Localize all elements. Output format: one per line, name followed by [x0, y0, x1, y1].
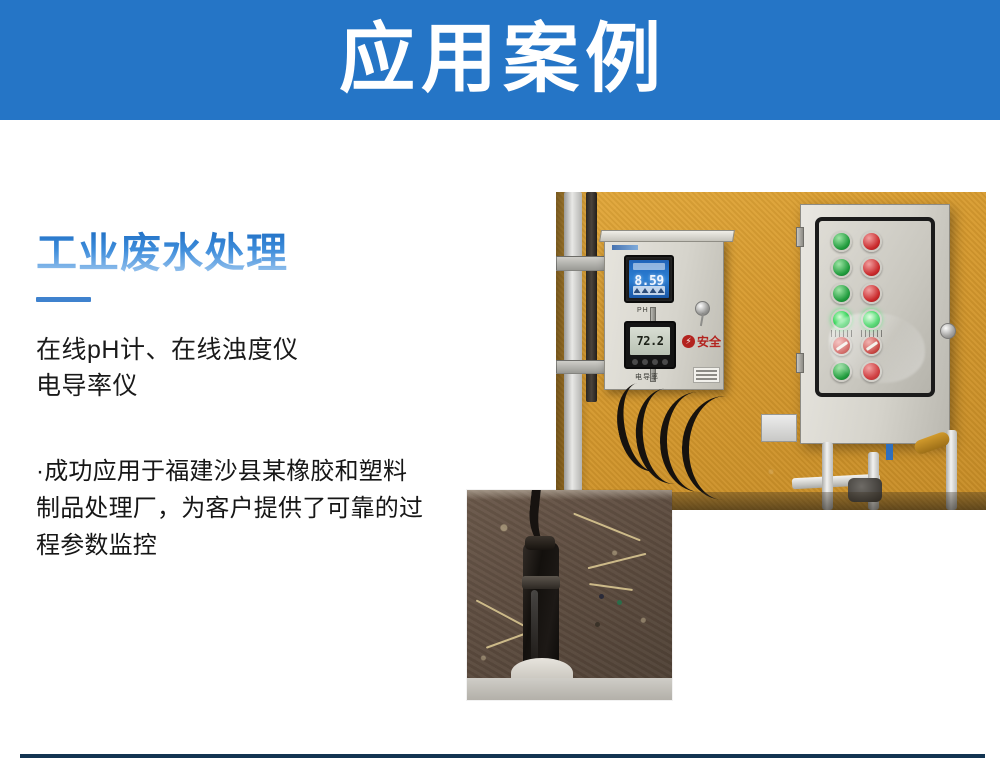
ph-key-arrow-4: [658, 288, 665, 293]
safety-decal-text: 安全: [697, 333, 721, 350]
blue-tape-marker: [886, 444, 893, 460]
junction-box: [761, 414, 797, 442]
spec-plate-line-2: [696, 374, 717, 376]
ph-meter-label: PH: [637, 307, 649, 314]
wall-strut-lower: [556, 360, 608, 374]
panel-hinge-upper: [796, 227, 804, 247]
panel-window: [815, 217, 935, 397]
title-divider: [36, 297, 91, 302]
indicator-lamp-green-1: [831, 231, 852, 252]
debris-speck-1: [617, 600, 622, 605]
indicator-lamp-green-3: [831, 283, 852, 304]
ph-meter-header-bar: [633, 263, 665, 270]
lightning-bolt-icon: ⚡: [682, 335, 695, 348]
page-title: 应用案例: [339, 22, 667, 98]
ph-meter-keypad: [633, 286, 665, 295]
panel-latch: [940, 323, 956, 339]
sensor-probe-photo: [467, 490, 672, 700]
cabinet-hinge-upper: [650, 307, 656, 322]
conductivity-key-2: [642, 359, 648, 365]
brand-label: [612, 245, 638, 250]
debris-speck-2: [599, 594, 604, 599]
indicator-lamp-green-2: [831, 257, 852, 278]
ph-key-arrow-3: [650, 288, 657, 293]
case-title: 工业废水处理: [36, 230, 436, 277]
indicator-lamp-red-3: [861, 283, 882, 304]
conductivity-meter-reading: 72.2: [637, 334, 664, 348]
case-text-column: 工业废水处理 在线pH计、在线浊度仪 电导率仪 ·成功应用于福建沙县某橡胶和塑料…: [36, 230, 436, 564]
subtitle-line-2: 电导率仪: [36, 368, 436, 404]
conductivity-key-1: [632, 359, 638, 365]
subtitle-line-1: 在线pH计、在线浊度仪: [36, 332, 436, 368]
footer-divider: [20, 754, 985, 758]
safety-decal: ⚡ 安全: [682, 333, 721, 350]
spec-plate-line-3: [696, 378, 717, 380]
conductivity-meter-keypad: [630, 358, 670, 366]
instrument-cabinet: 8.59 PH 72.2: [604, 238, 724, 390]
conductivity-meter-label: 电导率: [635, 372, 659, 382]
control-cabinet-photo: 8.59 PH 72.2: [556, 192, 986, 510]
cabinet-spec-plate: [693, 367, 720, 383]
case-description: ·成功应用于福建沙县某橡胶和塑料制品处理厂，为客户提供了可靠的过程参数监控: [36, 453, 431, 565]
white-curb: [467, 678, 672, 700]
case-photo-group: 8.59 PH 72.2: [556, 192, 986, 510]
ph-meter-screen: 8.59: [629, 260, 669, 298]
ph-key-arrow-2: [642, 288, 649, 293]
cabinet-roof: [599, 230, 735, 242]
debris-speck-3: [595, 622, 600, 627]
conductivity-key-4: [662, 359, 668, 365]
panel-hinge-lower: [796, 353, 804, 373]
conductivity-key-3: [652, 359, 658, 365]
ph-key-arrow-1: [634, 288, 641, 293]
indicator-lamp-red-2: [861, 257, 882, 278]
probe-collar-ring: [522, 576, 560, 589]
case-subtitle: 在线pH计、在线浊度仪 电导率仪: [36, 332, 436, 405]
conductivity-meter: 72.2: [624, 321, 676, 369]
control-panel-cabinet: [800, 204, 950, 444]
wall-strut-upper: [556, 256, 610, 271]
spec-plate-line-1: [696, 370, 717, 372]
indicator-lamp-red-1: [861, 231, 882, 252]
probe-highlight: [531, 590, 538, 666]
ph-meter: 8.59: [624, 255, 674, 303]
conductivity-meter-screen: 72.2: [630, 327, 670, 355]
header-banner: 应用案例: [0, 0, 1000, 120]
vertical-pipe: [564, 192, 582, 510]
probe-cap: [525, 536, 555, 550]
